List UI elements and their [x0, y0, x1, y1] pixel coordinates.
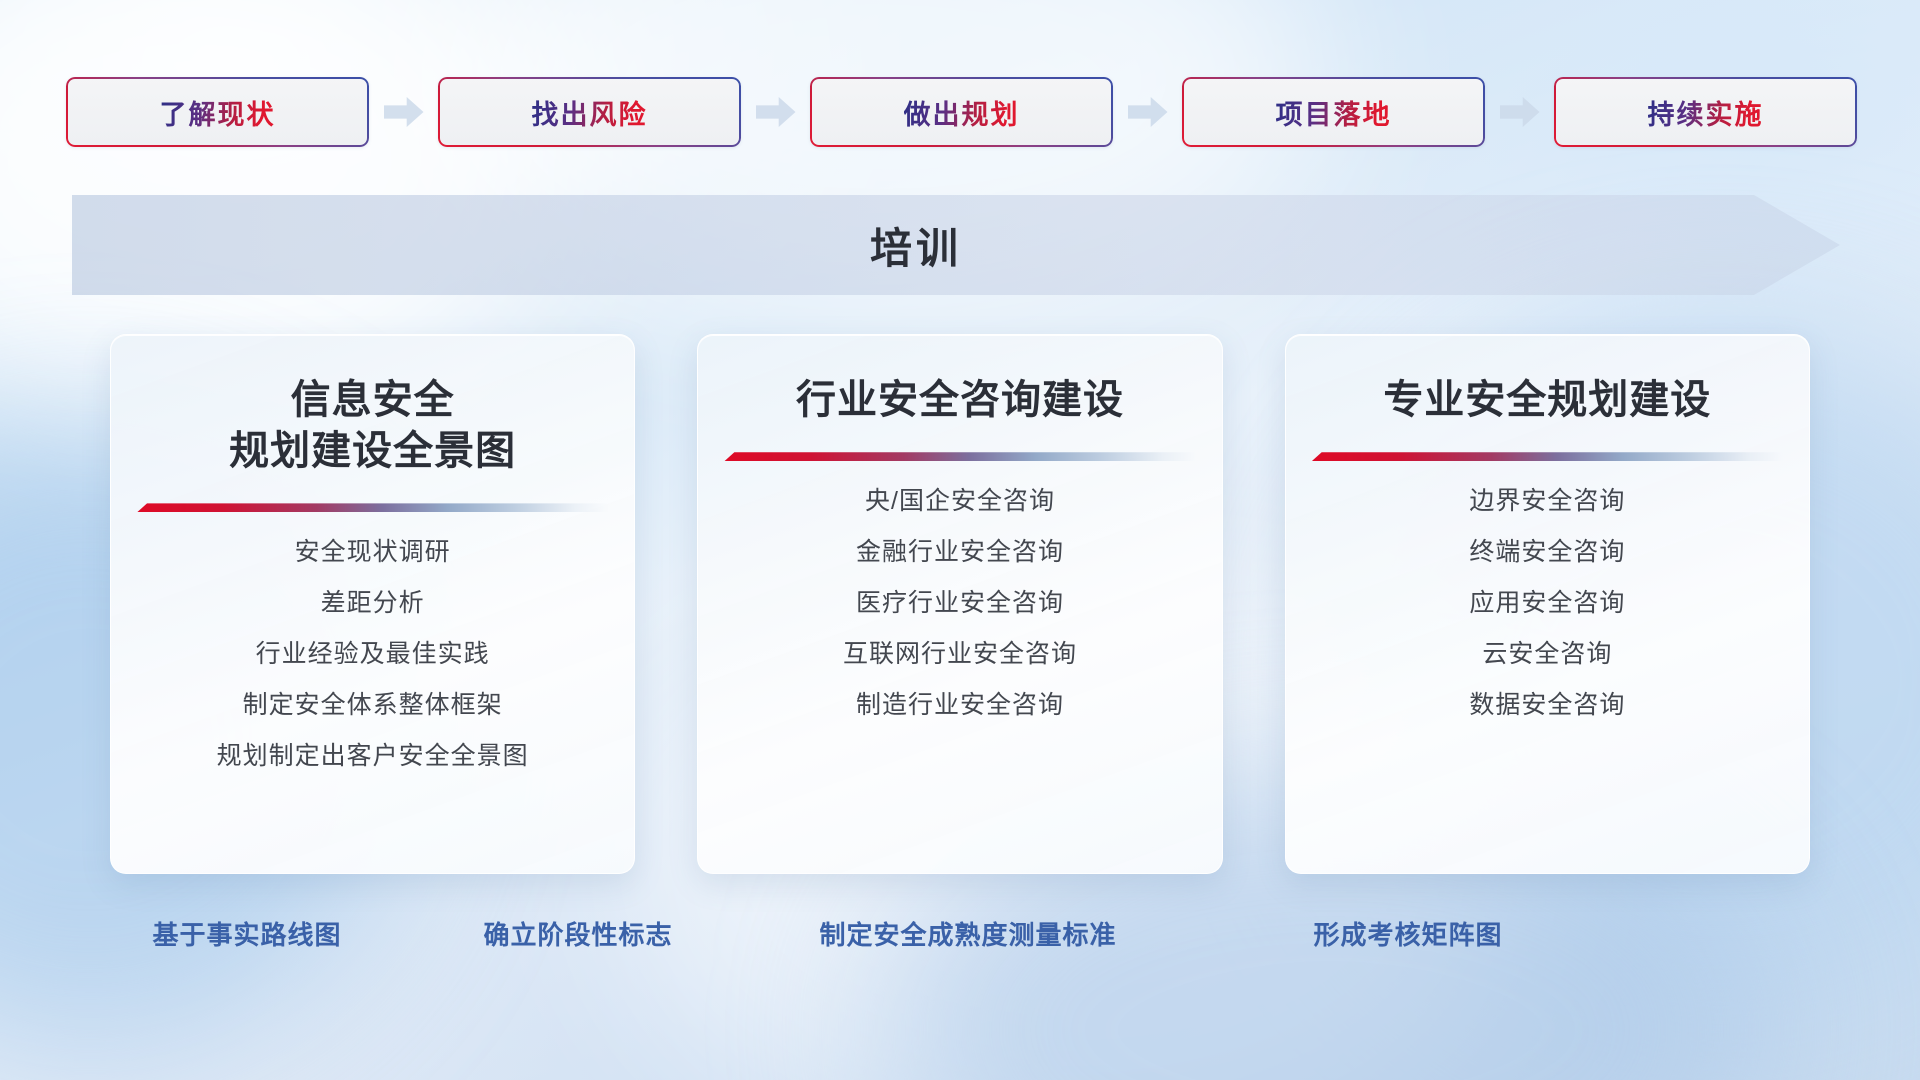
caption-milestones: 确立阶段性标志 [483, 915, 672, 952]
card-divider [1312, 452, 1783, 461]
step-chip-2[interactable]: 找出风险 [438, 77, 741, 147]
card-title: 专业安全规划建设 [1383, 375, 1711, 426]
slide-canvas: 了解现状 找出风险 做出规划 项目落地 持续实施 培训 信息安全 规划建设全景图… [0, 0, 1920, 1080]
step-chip-label: 做出规划 [904, 93, 1020, 132]
caption-assessment-matrix: 形成考核矩阵图 [1313, 915, 1502, 952]
list-item: 互联网行业安全咨询 [843, 642, 1077, 667]
card-group: 信息安全 规划建设全景图 安全现状调研 差距分析 行业经验及最佳实践 制定安全体… [110, 334, 1810, 874]
caption-maturity-standard: 制定安全成熟度测量标准 [819, 915, 1116, 952]
list-item: 边界安全咨询 [1469, 489, 1625, 514]
list-item: 行业经验及最佳实践 [217, 642, 529, 667]
step-chip-label: 持续实施 [1648, 93, 1764, 132]
list-item: 差距分析 [217, 591, 529, 616]
list-item: 安全现状调研 [217, 540, 529, 565]
step-chip-label: 项目落地 [1276, 93, 1392, 132]
step-chip-3[interactable]: 做出规划 [810, 77, 1113, 147]
step-chip-4[interactable]: 项目落地 [1182, 77, 1485, 147]
list-item: 医疗行业安全咨询 [843, 591, 1077, 616]
list-item: 制造行业安全咨询 [843, 693, 1077, 718]
card-professional-security-planning[interactable]: 专业安全规划建设 边界安全咨询 终端安全咨询 应用安全咨询 云安全咨询 数据安全… [1285, 334, 1810, 874]
card-divider [137, 503, 608, 512]
list-item: 央/国企安全咨询 [843, 489, 1077, 514]
step-chip-label: 了解现状 [160, 93, 276, 132]
card-title: 行业安全咨询建设 [796, 375, 1124, 426]
caption-roadmap: 基于事实路线图 [152, 915, 341, 952]
arrow-right-icon [1485, 95, 1554, 129]
arrow-right-icon [741, 95, 810, 129]
list-item: 金融行业安全咨询 [843, 540, 1077, 565]
list-item: 制定安全体系整体框架 [217, 693, 529, 718]
card-industry-security-consulting[interactable]: 行业安全咨询建设 央/国企安全咨询 金融行业安全咨询 医疗行业安全咨询 互联网行… [697, 334, 1222, 874]
step-chip-1[interactable]: 了解现状 [66, 77, 369, 147]
list-item: 云安全咨询 [1469, 642, 1625, 667]
card-item-list: 央/国企安全咨询 金融行业安全咨询 医疗行业安全咨询 互联网行业安全咨询 制造行… [843, 489, 1077, 718]
arrow-right-icon [369, 95, 438, 129]
card-item-list: 安全现状调研 差距分析 行业经验及最佳实践 制定安全体系整体框架 规划制定出客户… [217, 540, 529, 769]
list-item: 应用安全咨询 [1469, 591, 1625, 616]
step-chip-label: 找出风险 [532, 93, 648, 132]
list-item: 数据安全咨询 [1469, 693, 1625, 718]
list-item: 终端安全咨询 [1469, 540, 1625, 565]
caption-row: 基于事实路线图 确立阶段性标志 制定安全成熟度测量标准 形成考核矩阵图 [0, 915, 1920, 961]
card-item-list: 边界安全咨询 终端安全咨询 应用安全咨询 云安全咨询 数据安全咨询 [1469, 489, 1625, 718]
training-banner-arrow: 培训 [72, 195, 1840, 295]
card-information-security-blueprint[interactable]: 信息安全 规划建设全景图 安全现状调研 差距分析 行业经验及最佳实践 制定安全体… [110, 334, 635, 874]
process-step-bar: 了解现状 找出风险 做出规划 项目落地 持续实施 [66, 76, 1856, 148]
list-item: 规划制定出客户安全全景图 [217, 744, 529, 769]
step-chip-5[interactable]: 持续实施 [1554, 77, 1857, 147]
card-title: 信息安全 规划建设全景图 [229, 375, 516, 477]
card-divider [724, 452, 1195, 461]
training-banner-label: 培训 [870, 215, 962, 276]
arrow-right-icon [1113, 95, 1182, 129]
